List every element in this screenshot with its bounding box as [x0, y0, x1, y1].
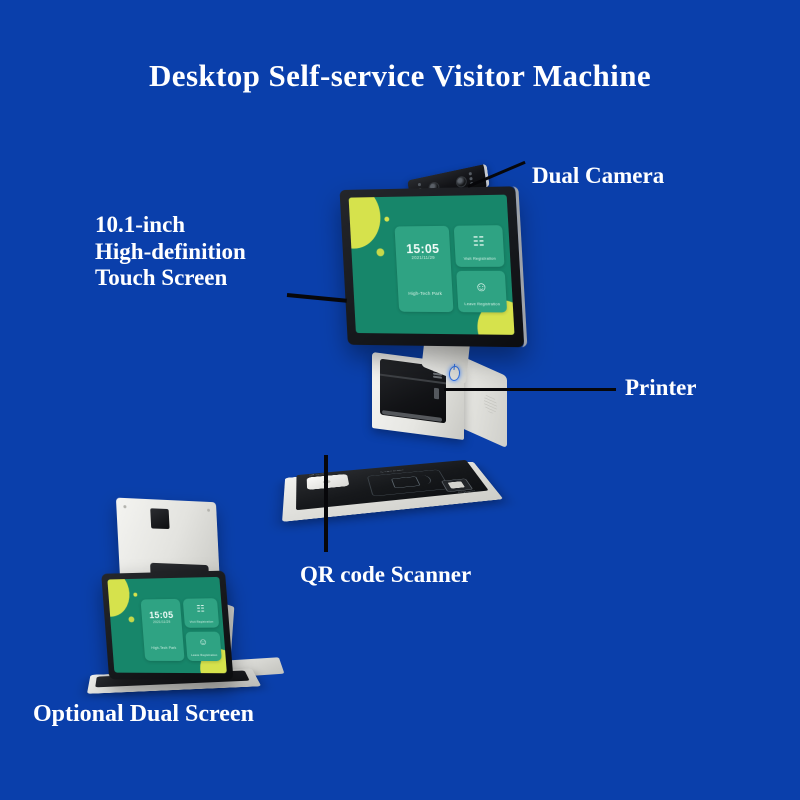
rear-camera-window [150, 508, 169, 529]
decorative-dot [128, 616, 134, 622]
qr-code-scanner[interactable] [307, 474, 350, 490]
touch-screen-display[interactable]: 15:05 2021/11/29 High-Tech Park ☷ Visit … [349, 195, 515, 335]
decorative-blob [349, 195, 383, 249]
visit-registration-tile[interactable]: ☷ Visit Registration [183, 598, 219, 628]
product-infographic: Desktop Self-service Visitor Machine QR … [0, 0, 800, 800]
person-icon: ☺ [457, 280, 506, 293]
leave-registration-label: Leave Registration [187, 653, 222, 657]
document-icon: ☷ [183, 604, 218, 614]
decorative-dot [133, 593, 137, 597]
vent-icon [484, 392, 497, 416]
visit-registration-tile[interactable]: ☷ Visit Registration [454, 225, 505, 267]
dual-unit-front-display[interactable]: 15:05 2021/11/29 High-Tech Park ☷ Visit … [107, 577, 227, 673]
person-icon: ☺ [186, 638, 221, 647]
clock-tile: 15:05 2021/11/29 High-Tech Park [395, 226, 454, 312]
clock-location: High-Tech Park [398, 291, 453, 296]
leave-registration-tile[interactable]: ☺ Leave Registration [456, 271, 507, 313]
screw-icon [207, 509, 210, 512]
decorative-dot [384, 217, 389, 222]
clock-time: 15:05 [141, 610, 181, 620]
visit-registration-label: Visit Registration [184, 619, 219, 623]
clock-date: 2021/11/29 [396, 255, 451, 260]
printer-side-panel [461, 356, 507, 448]
callout-touch-screen: 10.1-inch High-definition Touch Screen [95, 212, 246, 292]
decorative-blob [107, 577, 131, 617]
callout-qr-scanner: QR code Scanner [300, 562, 471, 589]
leave-registration-tile[interactable]: ☺ Leave Registration [185, 632, 222, 661]
document-icon: ☷ [454, 234, 503, 248]
clock-location: High-Tech Park [144, 646, 184, 650]
clock-date: 2021/11/29 [142, 620, 182, 624]
card-slot [434, 388, 439, 400]
leader-line-printer [444, 388, 616, 391]
callout-optional-dual-screen: Optional Dual Screen [33, 701, 254, 729]
leave-registration-label: Leave Registration [458, 301, 507, 306]
clock-tile: 15:05 2021/11/29 High-Tech Park [141, 599, 185, 661]
decorative-dot [376, 248, 384, 256]
callout-printer: Printer [625, 375, 697, 402]
callout-dual-camera: Dual Camera [532, 163, 664, 190]
leader-line-qr-scanner [324, 455, 328, 552]
screw-icon [123, 505, 126, 508]
visit-registration-label: Visit Registration [455, 256, 504, 261]
fingerprint-sensor-surface [448, 481, 465, 488]
